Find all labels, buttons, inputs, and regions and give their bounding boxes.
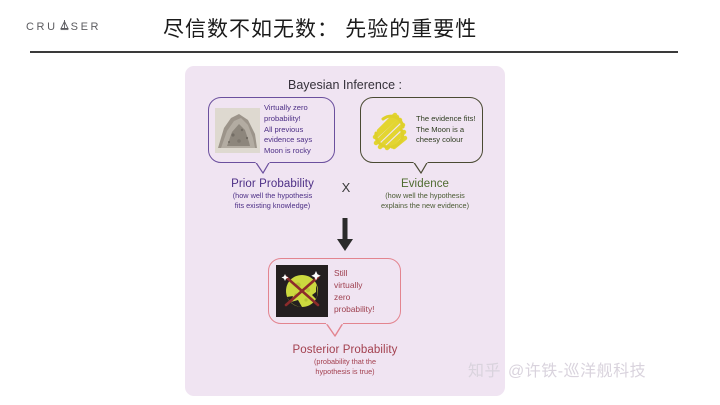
evidence-label: Evidence (how well the hypothesis explai… — [350, 178, 500, 210]
prior-bubble-text: Virtually zero probability! All previous… — [264, 103, 312, 157]
brand-text-ser: SER — [71, 21, 101, 33]
bayesian-inference-diagram: Bayesian Inference : Virtually zero prob… — [185, 66, 505, 396]
cruiser-brand-logo: CRU SER — [26, 19, 101, 34]
prior-probability-label: Prior Probability (how well the hypothes… — [195, 178, 350, 210]
prior-speech-bubble: Virtually zero probability! All previous… — [208, 97, 335, 163]
prior-term-title: Prior Probability — [195, 178, 350, 190]
posterior-speech-bubble: Still virtually zero probability! — [268, 258, 401, 324]
diagram-heading: Bayesian Inference : — [185, 78, 505, 92]
watermark-handle: @许铁-巡洋舰科技 — [508, 363, 646, 380]
page-title: 尽信数不如无数： 先验的重要性 — [163, 13, 477, 43]
posterior-term-subtitle: (probability that the hypothesis is true… — [220, 357, 470, 376]
evidence-term-title: Evidence — [350, 178, 500, 190]
watermark-site: 知乎 — [468, 363, 501, 380]
down-arrow-icon — [333, 218, 357, 252]
posterior-probability-label: Posterior Probability (probability that … — [220, 344, 470, 376]
moon-rock-photo-icon — [215, 108, 260, 153]
slide-header: CRU SER 尽信数不如无数： 先验的重要性 — [0, 0, 720, 53]
posterior-term-title: Posterior Probability — [220, 344, 470, 356]
posterior-bubble-text: Still virtually zero probability! — [334, 267, 375, 316]
brand-text-cru: CRU — [26, 21, 58, 33]
zhihu-watermark: 知乎@许铁-巡洋舰科技 — [468, 357, 646, 381]
title-divider — [30, 51, 678, 53]
cheese-moon-crossed-out-icon — [276, 265, 328, 317]
posterior-bubble-tail-icon — [326, 323, 344, 337]
prior-bubble-tail-icon — [255, 162, 271, 174]
evidence-bubble-tail-icon — [413, 162, 429, 174]
evidence-term-subtitle: (how well the hypothesis explains the ne… — [350, 191, 500, 210]
prior-term-subtitle: (how well the hypothesis fits existing k… — [195, 191, 350, 210]
cruiser-ship-mark-icon — [59, 19, 70, 34]
yellow-cheese-scribble-icon — [367, 107, 413, 153]
evidence-bubble-text: The evidence fits! The Moon is a cheesy … — [416, 114, 476, 146]
evidence-speech-bubble: The evidence fits! The Moon is a cheesy … — [360, 97, 483, 163]
